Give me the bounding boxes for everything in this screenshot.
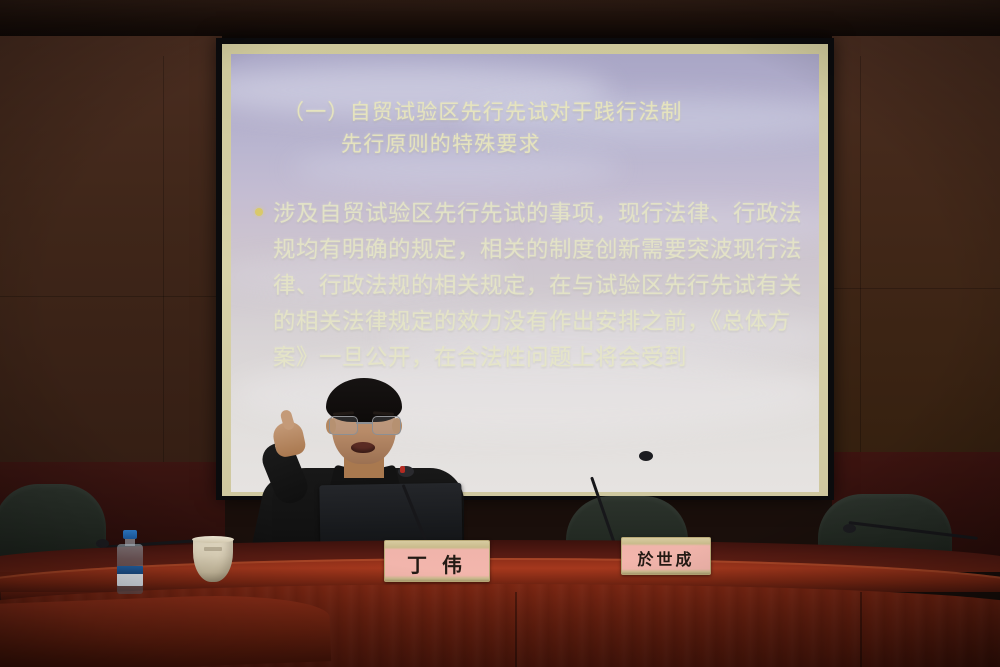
water-bottle-label xyxy=(117,566,143,586)
presenter-mouth xyxy=(351,442,375,453)
desk-panel-seam-1 xyxy=(515,592,517,667)
desk-panel-seam-2 xyxy=(860,592,862,667)
nameplate-text: 於世成 xyxy=(637,546,694,570)
desk-lower-tier xyxy=(0,591,331,667)
wall-panel-right xyxy=(832,36,1000,468)
water-bottle-cap xyxy=(123,530,137,539)
eyeglass-lens-left xyxy=(329,416,358,435)
wall-seam-left xyxy=(163,56,164,496)
bullet-dot-icon xyxy=(255,208,263,216)
wall-seam-right-h xyxy=(832,288,1000,289)
nameplate-text: 丁 伟 xyxy=(407,549,467,578)
nameplate-yu-shicheng: 於世成 xyxy=(621,537,711,575)
microphone-head-right xyxy=(843,524,856,533)
lecture-hall-scene: （一）自贸试验区先行先试对于践行法制 先行原则的特殊要求 涉及自贸试验区先行先试… xyxy=(0,0,1000,667)
eyeglasses-icon xyxy=(328,416,400,433)
slide-title-line-2: 先行原则的特殊要求 xyxy=(283,128,783,160)
water-bottle xyxy=(116,530,144,594)
wall-seam-right xyxy=(860,56,861,456)
wall-seam-left-h xyxy=(0,296,222,297)
eyeglass-lens-right xyxy=(372,416,401,435)
microphone-head-center xyxy=(639,451,653,461)
slide-bullet-item: 涉及自贸试验区先行先试的事项，现行法律、行政法规均有明确的规定，相关的制度创新需… xyxy=(255,196,807,376)
water-bottle-neck xyxy=(125,538,135,546)
microphone-indicator-light xyxy=(400,466,405,473)
eyeglass-bridge xyxy=(356,422,372,424)
nameplate-ding-wei: 丁 伟 xyxy=(384,540,490,582)
slide-body-text: 涉及自贸试验区先行先试的事项，现行法律、行政法规均有明确的规定，相关的制度创新需… xyxy=(273,196,807,376)
wall-panel-left xyxy=(0,36,222,506)
tea-cup-rim xyxy=(192,536,234,543)
slide-title: （一）自贸试验区先行先试对于践行法制 先行原则的特殊要求 xyxy=(283,96,783,160)
tea-cup-logo xyxy=(204,547,222,551)
slide-title-line-1: （一）自贸试验区先行先试对于践行法制 xyxy=(283,100,683,124)
